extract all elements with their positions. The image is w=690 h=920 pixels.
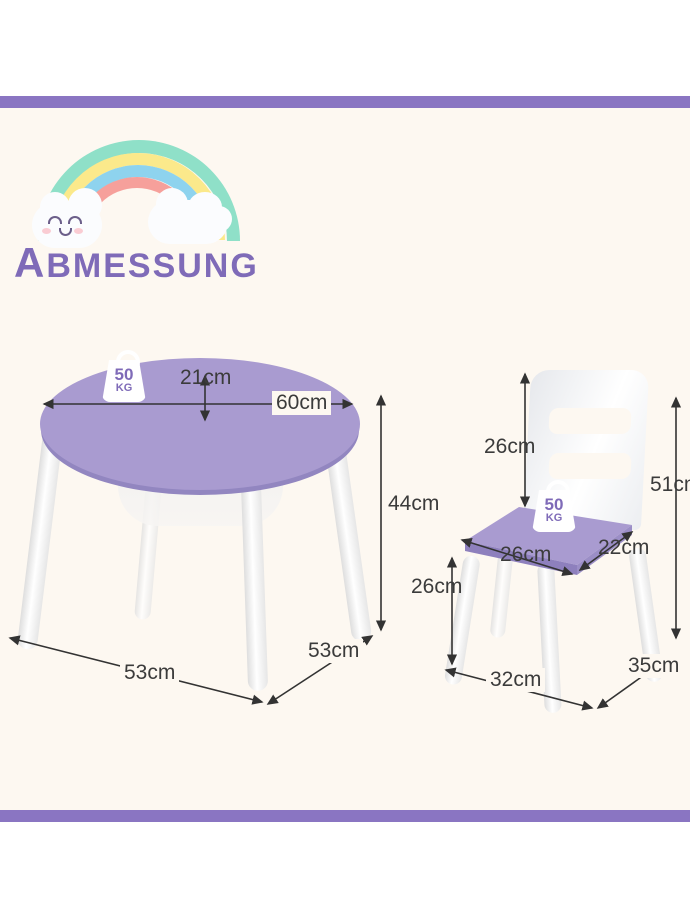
chair-weight-capacity-badge: 50 KG bbox=[528, 480, 580, 532]
dimension-label-table-height: 44cm bbox=[388, 492, 439, 516]
table-weight-capacity-badge: 50 KG bbox=[98, 350, 150, 402]
rainbow-illustration bbox=[38, 140, 228, 245]
page-title-rest: BMESSUNG bbox=[46, 247, 258, 285]
page-title-initial: A bbox=[14, 239, 46, 286]
dimension-label-chair-backrest-height: 26cm bbox=[484, 435, 535, 459]
dimension-label-table-footprint-width: 53cm bbox=[120, 661, 179, 685]
table-leg-left bbox=[17, 425, 64, 651]
page-title: ABMESSUNG bbox=[14, 242, 259, 284]
dimension-label-chair-leg-height: 26cm bbox=[411, 575, 462, 599]
table-leg-right bbox=[324, 437, 372, 643]
top-accent-bar bbox=[0, 96, 690, 108]
dimension-label-chair-footprint-width: 32cm bbox=[486, 668, 545, 692]
cloud-right bbox=[148, 200, 228, 244]
product-dimension-infographic: ABMESSUNG bbox=[0, 0, 690, 920]
cloud-eye-right-icon bbox=[68, 216, 82, 224]
chair-weight-unit: KG bbox=[528, 513, 580, 524]
chair-backrest-slot-upper bbox=[548, 408, 631, 434]
dimension-label-table-thickness: 21cm bbox=[180, 366, 231, 390]
chair-backrest-slot-lower bbox=[548, 453, 631, 479]
cloud-blush-left bbox=[42, 228, 51, 234]
bottom-accent-bar bbox=[0, 810, 690, 822]
dimension-label-chair-seat-depth: 22cm bbox=[598, 536, 649, 560]
dimension-label-chair-seat-width: 26cm bbox=[500, 543, 551, 567]
table-weight-unit: KG bbox=[98, 383, 150, 394]
dimension-label-chair-total-height: 51cm bbox=[650, 473, 690, 497]
table-weight-value: 50 bbox=[98, 366, 150, 383]
dimension-label-table-footprint-depth: 53cm bbox=[304, 639, 363, 663]
dimension-label-chair-footprint-depth: 35cm bbox=[625, 654, 682, 678]
cloud-blush-right bbox=[74, 228, 83, 234]
content-canvas: ABMESSUNG bbox=[0, 108, 690, 810]
dimension-label-table-diameter: 60cm bbox=[272, 391, 331, 415]
cloud-eye-left-icon bbox=[48, 216, 62, 224]
chair-weight-value: 50 bbox=[528, 496, 580, 513]
